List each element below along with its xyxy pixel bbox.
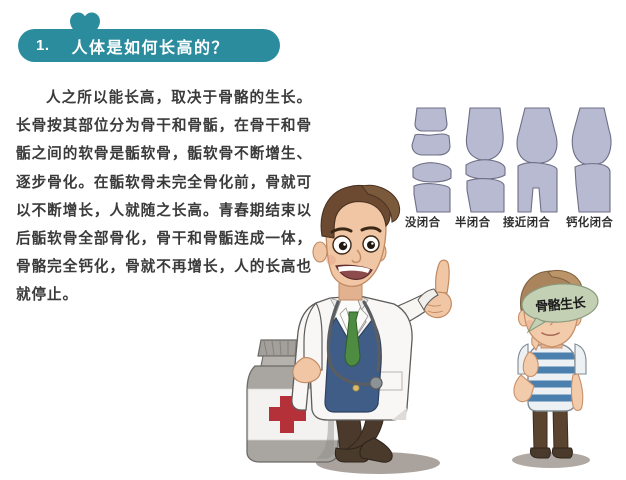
page-title: 人体是如何长高的？ [72,34,230,58]
bone-diagram-labels: 没闭合 半闭合 接近闭合 钙化闭合 [403,214,623,232]
bone-diagram-stage-half [459,106,511,214]
medicine-bottle [247,340,338,462]
heading-number: 1. [36,37,50,54]
bone-diagram-stage-open [405,106,457,214]
bone-diagram-stage-near [511,106,563,214]
bone-closure-diagram-group [403,106,621,214]
bone-label-half: 半闭合 [455,214,490,230]
speech-bubble-text: 骨骼生长 [522,282,599,324]
section-heading: 1. 人体是如何长高的？ [18,10,280,62]
speech-bubble: 骨骼生长 [523,285,597,321]
doctor-shadow [316,452,440,474]
body-paragraph: 人之所以能长高，取决于骨骼的生长。长骨按其部位分为骨干和骨骺，在骨干和骨骺之间的… [16,84,312,310]
bone-label-near: 接近闭合 [503,214,550,230]
red-cross-icon [269,396,306,433]
bone-diagram-stage-fused [565,106,617,214]
boy-shadow [512,452,590,468]
bone-label-open: 没闭合 [405,214,440,230]
pointing-hand [418,260,451,317]
heading-pill: 1. 人体是如何长高的？ [18,29,280,62]
bone-label-fused: 钙化闭合 [566,214,613,230]
